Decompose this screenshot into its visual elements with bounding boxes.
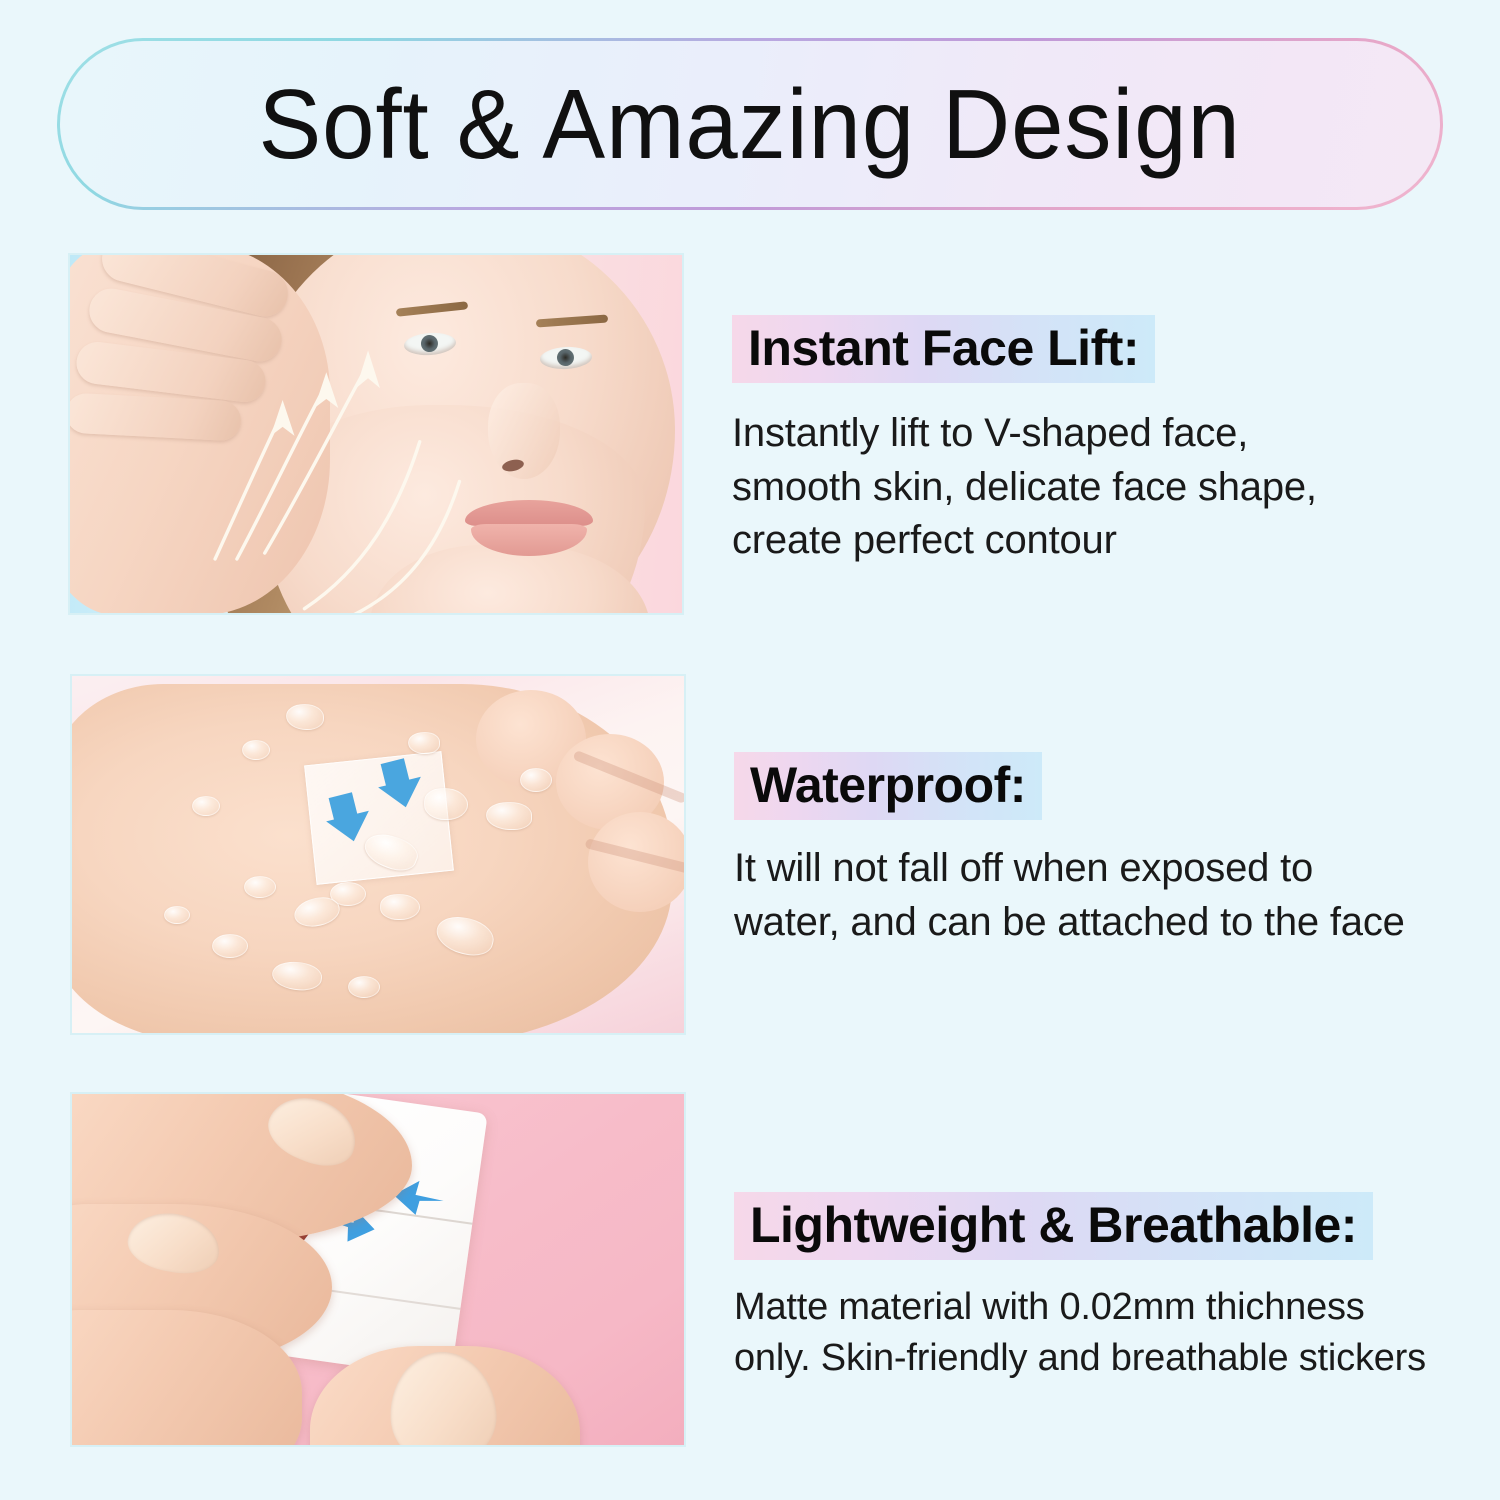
feature-text-waterproof: Waterproof: It will not fall off when ex…: [686, 674, 1450, 949]
water-droplet: [424, 788, 468, 820]
feature-description: Matte material with 0.02mm thichness onl…: [734, 1282, 1450, 1384]
feature-text-instant-face-lift: Instant Face Lift: Instantly lift to V-s…: [684, 253, 1448, 568]
lift-curve-extra-1: [304, 442, 419, 609]
water-droplet: [408, 732, 440, 754]
lift-arrowheads: [271, 350, 380, 435]
feature-row-instant-face-lift: Instant Face Lift: Instantly lift to V-s…: [68, 253, 1448, 615]
water-droplet: [520, 768, 552, 792]
header-banner: Soft & Amazing Design: [57, 38, 1443, 210]
waterproof-photo: [70, 674, 686, 1035]
blue-arrow-upper-right: [373, 755, 427, 812]
lift-arrowhead-top: [356, 350, 380, 388]
water-droplet: [486, 802, 532, 830]
feature-heading: Instant Face Lift:: [732, 315, 1155, 383]
water-droplet: [192, 796, 220, 816]
water-droplet: [212, 934, 248, 958]
feature-description: Instantly lift to V-shaped face, smooth …: [732, 407, 1448, 568]
feature-description: It will not fall off when exposed to wat…: [734, 842, 1450, 949]
lift-arrowhead-mid: [314, 372, 338, 408]
water-droplet: [164, 906, 190, 924]
water-droplet: [380, 894, 420, 920]
feature-description-line: only. Skin-friendly and breathable stick…: [734, 1333, 1450, 1384]
feature-row-waterproof: Waterproof: It will not fall off when ex…: [70, 674, 1450, 1035]
face-lift-photo: [68, 253, 684, 615]
water-droplet: [242, 740, 270, 760]
feature-description-line: create perfect contour: [732, 514, 1448, 568]
feature-description-line: smooth skin, delicate face shape,: [732, 461, 1448, 515]
feature-description-line: Matte material with 0.02mm thichness: [734, 1282, 1450, 1333]
feature-description-line: water, and can be attached to the face: [734, 896, 1450, 950]
feature-heading: Lightweight & Breathable:: [734, 1192, 1373, 1260]
feature-heading: Waterproof:: [734, 752, 1042, 820]
page-title: Soft & Amazing Design: [259, 75, 1241, 173]
blue-arrow-lower-left: [321, 789, 375, 846]
feature-text-lightweight-breathable: Lightweight & Breathable: Matte material…: [686, 1092, 1450, 1384]
breathable-photo: [70, 1092, 686, 1447]
feature-description-line: Instantly lift to V-shaped face,: [732, 407, 1448, 461]
water-droplet: [286, 704, 324, 730]
lift-arrowhead-bottom: [271, 400, 295, 436]
water-droplet: [348, 976, 380, 998]
water-droplet: [244, 876, 276, 898]
lift-arrows-overlay: [70, 255, 682, 615]
feature-description-line: It will not fall off when exposed to: [734, 842, 1450, 896]
header-banner-inner: Soft & Amazing Design: [60, 41, 1440, 207]
lift-arrow-line-top: [265, 364, 368, 553]
feature-row-lightweight-breathable: Lightweight & Breathable: Matte material…: [70, 1092, 1450, 1447]
